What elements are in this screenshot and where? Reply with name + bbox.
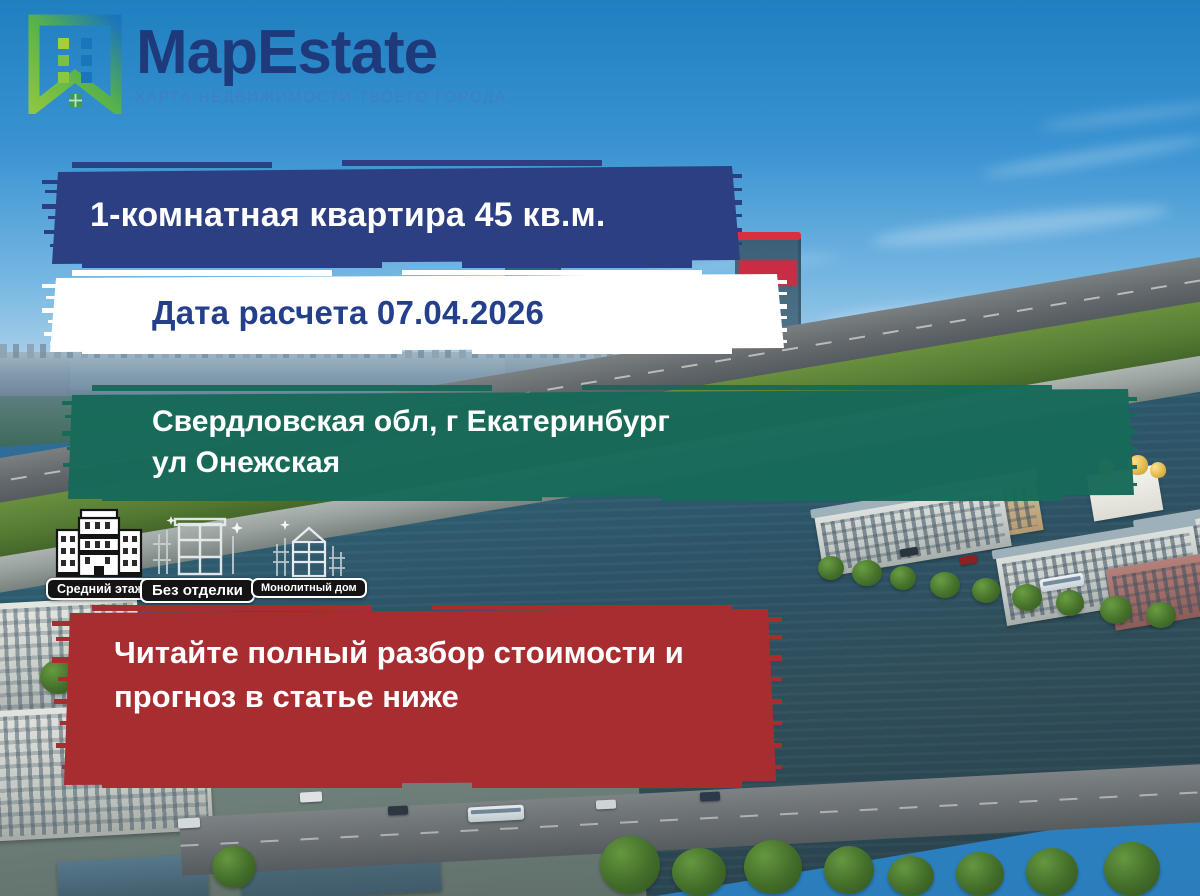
- address-line-1: Свердловская обл, г Екатеринбург: [152, 401, 670, 442]
- badge-no-finish-label: Без отделки: [140, 578, 255, 603]
- banner-cta-text: Читайте полный разбор стоимости и прогно…: [52, 605, 692, 719]
- banner-date: Дата расчета 07.04.2026: [42, 270, 787, 356]
- bookmark-building-logo-icon: [28, 14, 122, 114]
- banner-address: Свердловская обл, г Екатеринбург ул Онеж…: [62, 385, 1137, 503]
- badge-middle-floor-label: Средний этаж: [46, 578, 155, 600]
- banner-cta[interactable]: Читайте полный разбор стоимости и прогно…: [52, 605, 782, 790]
- banner-title: 1-комнатная квартира 45 кв.м.: [42, 160, 742, 270]
- bare-frame-construction-icon: [149, 514, 245, 580]
- badge-monolithic-house-label: Монолитный дом: [251, 578, 367, 598]
- promo-card: MapEstate КАРТА НЕДВИЖИМОСТИ ТВОЕГО ГОРО…: [0, 0, 1200, 896]
- badge-monolithic-house[interactable]: Монолитный дом: [251, 518, 367, 598]
- brand-logo[interactable]: MapEstate КАРТА НЕДВИЖИМОСТИ ТВОЕГО ГОРО…: [28, 14, 507, 114]
- apartment-building-icon: [54, 508, 146, 580]
- address-line-2: ул Онежская: [152, 442, 670, 483]
- badge-no-finish[interactable]: Без отделки: [140, 514, 255, 603]
- badge-middle-floor[interactable]: Средний этаж: [46, 508, 155, 600]
- feature-badges: Средний этаж: [46, 508, 376, 600]
- brand-tagline: КАРТА НЕДВИЖИМОСТИ ТВОЕГО ГОРОДА: [136, 89, 507, 107]
- banner-address-text: Свердловская обл, г Екатеринбург ул Онеж…: [62, 385, 670, 484]
- brand-title: MapEstate: [136, 22, 507, 84]
- banner-title-text: 1-комнатная квартира 45 кв.м.: [42, 196, 606, 235]
- monolithic-house-icon: [259, 518, 359, 580]
- banner-date-text: Дата расчета 07.04.2026: [42, 294, 544, 332]
